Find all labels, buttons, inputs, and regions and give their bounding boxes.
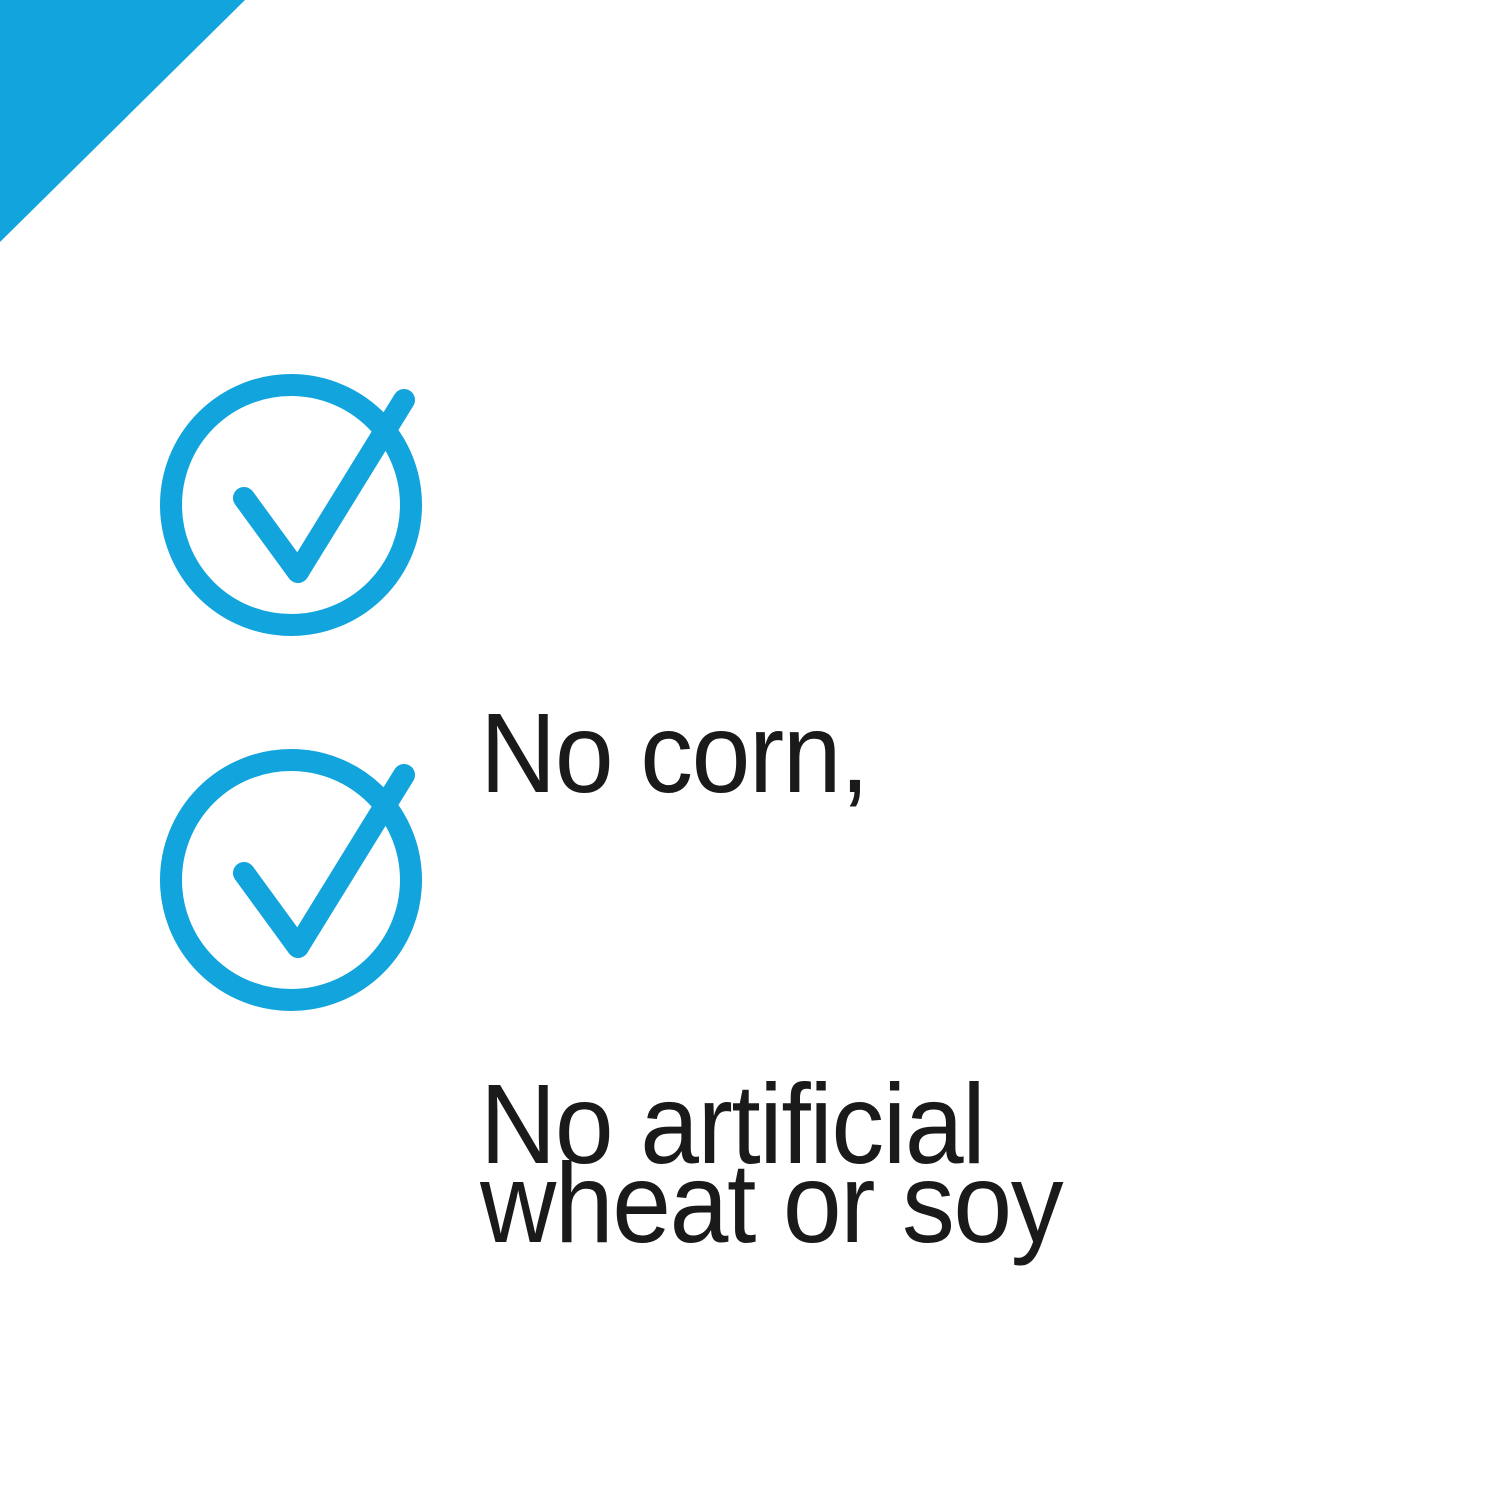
benefit-item: No artificial colors, flavors or preserv… — [160, 749, 1282, 1500]
check-circle-icon — [160, 374, 422, 636]
graphic-canvas: No corn, wheat or soy No artificial colo… — [0, 0, 1500, 1500]
benefit-text: No artificial colors, flavors or preserv… — [480, 749, 1230, 1500]
check-circle-icon — [160, 749, 422, 1011]
benefit-line: No artificial — [480, 1049, 1230, 1199]
blue-corner-wedge — [0, 0, 245, 242]
